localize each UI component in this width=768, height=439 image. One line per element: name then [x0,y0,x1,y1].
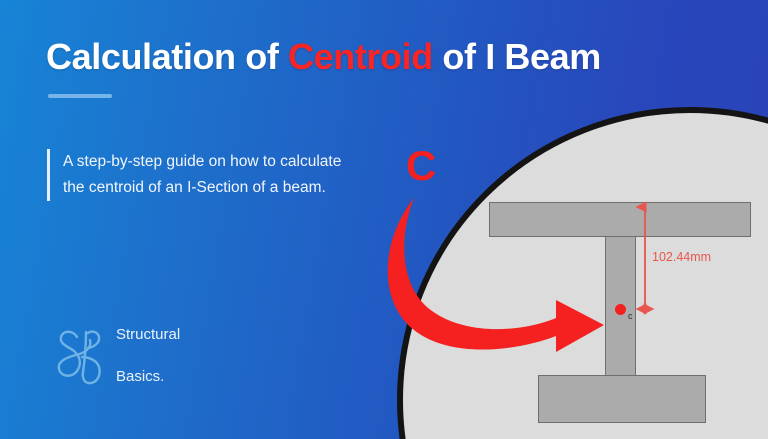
curved-arrow-icon [0,0,768,439]
poster-canvas: Calculation of Centroid of I Beam A step… [0,0,768,439]
